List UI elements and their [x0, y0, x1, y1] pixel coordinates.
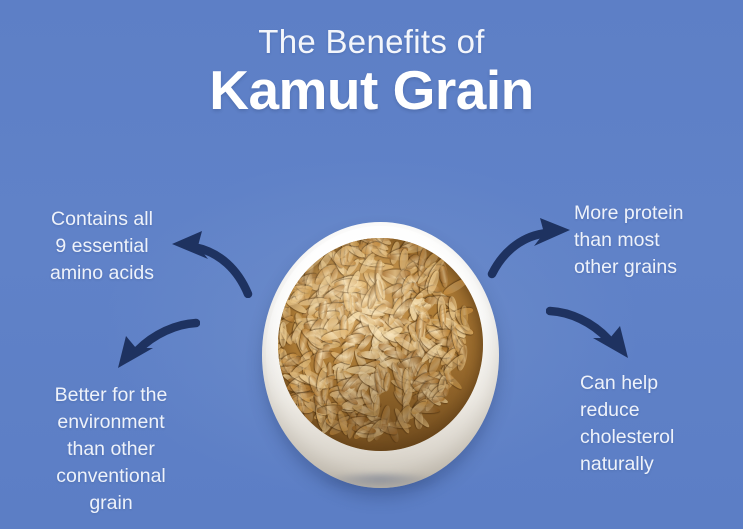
- curved-arrow-left-icon: [168, 226, 258, 303]
- benefit-label-bottom-left: Better for the environment than other co…: [26, 382, 196, 517]
- curved-arrow-down-left-icon: [104, 312, 200, 389]
- benefit-label-bottom-right: Can help reduce cholesterol naturally: [580, 370, 740, 478]
- benefit-label-top-left: Contains all 9 essential amino acids: [22, 206, 182, 287]
- grain-kernels: [278, 238, 483, 451]
- curved-arrow-right-icon: [486, 216, 576, 293]
- grain-fill: [278, 238, 483, 451]
- title-kicker: The Benefits of: [0, 22, 743, 62]
- curved-arrow-down-right-icon: [546, 302, 642, 379]
- bowl-body: [262, 222, 499, 488]
- title-block: The Benefits of Kamut Grain: [0, 22, 743, 120]
- bowl-of-grain-image: [262, 220, 499, 490]
- page-title: Kamut Grain: [0, 60, 743, 120]
- benefit-label-top-right: More protein than most other grains: [574, 200, 734, 281]
- infographic-poster: The Benefits of Kamut Grain Contains all…: [0, 0, 743, 529]
- bowl-base-shadow: [320, 474, 440, 490]
